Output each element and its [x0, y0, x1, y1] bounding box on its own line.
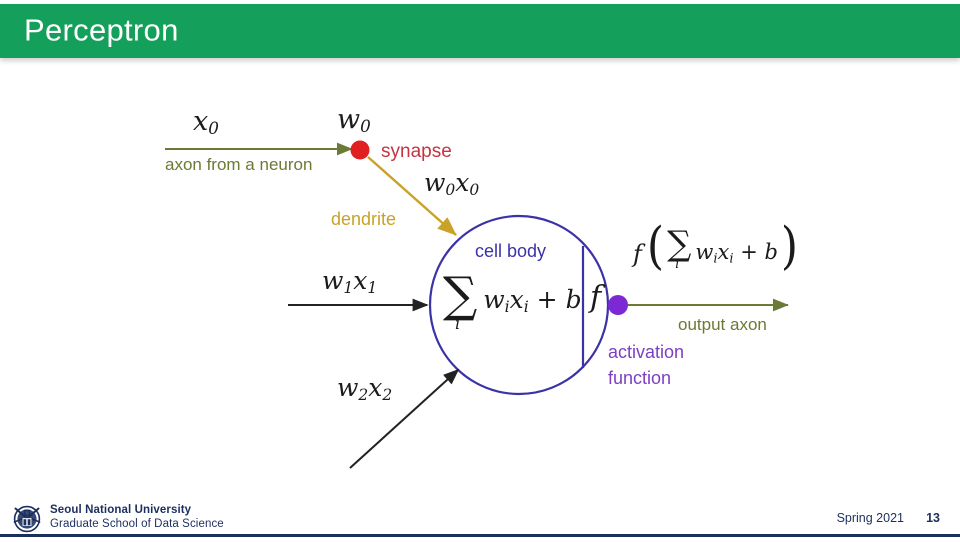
page-title: Perceptron: [24, 12, 179, 48]
footer-divider: [0, 534, 960, 537]
label-w1x1: w1x1: [322, 268, 377, 296]
output-formula: f ( ∑ i wixi + b ): [633, 230, 798, 266]
summation-index: i: [455, 316, 460, 332]
label-w2x2: w2x2: [337, 375, 392, 403]
synapse-dot: [351, 141, 370, 160]
summation-symbol: ∑: [443, 267, 477, 323]
label-synapse: synapse: [381, 142, 452, 161]
label-dendrite: dendrite: [331, 210, 396, 228]
label-activation-line1: activation: [608, 343, 684, 361]
label-cell-body: cell body: [475, 242, 546, 260]
label-w0x0: w0x0: [424, 170, 479, 198]
output-summation-index: i: [675, 258, 679, 271]
slide-header-bar: Perceptron: [0, 4, 960, 58]
university-brand: Seoul National University Graduate Schoo…: [50, 503, 224, 532]
term-label: Spring 2021: [837, 511, 904, 525]
university-logo-icon: [10, 502, 44, 534]
output-summation-terms: wixi + b: [695, 242, 778, 265]
output-f: f: [633, 242, 642, 266]
activation-dot: [608, 295, 628, 315]
slide-canvas: Perceptron: [0, 0, 960, 542]
summation-terms: wixi + b: [483, 287, 581, 315]
label-activation-line2: function: [608, 369, 671, 387]
output-paren-open: (: [647, 227, 664, 266]
university-name: Seoul National University: [50, 503, 224, 517]
activation-function-symbol: f: [590, 283, 601, 313]
page-number: 13: [926, 511, 940, 525]
slide-footer: Seoul National University Graduate Schoo…: [0, 498, 960, 538]
perceptron-diagram: x0 w0 axon from a neuron synapse w0x0 de…: [0, 58, 960, 498]
output-paren-close: ): [781, 227, 798, 266]
label-output-axon: output axon: [678, 316, 767, 333]
cell-body-formula: ∑ i wixi + b: [443, 276, 582, 315]
department-name: Graduate School of Data Science: [50, 517, 224, 532]
label-x0: x0: [193, 108, 219, 137]
label-w0: w0: [337, 106, 371, 135]
label-axon-from-neuron: axon from a neuron: [165, 156, 312, 173]
